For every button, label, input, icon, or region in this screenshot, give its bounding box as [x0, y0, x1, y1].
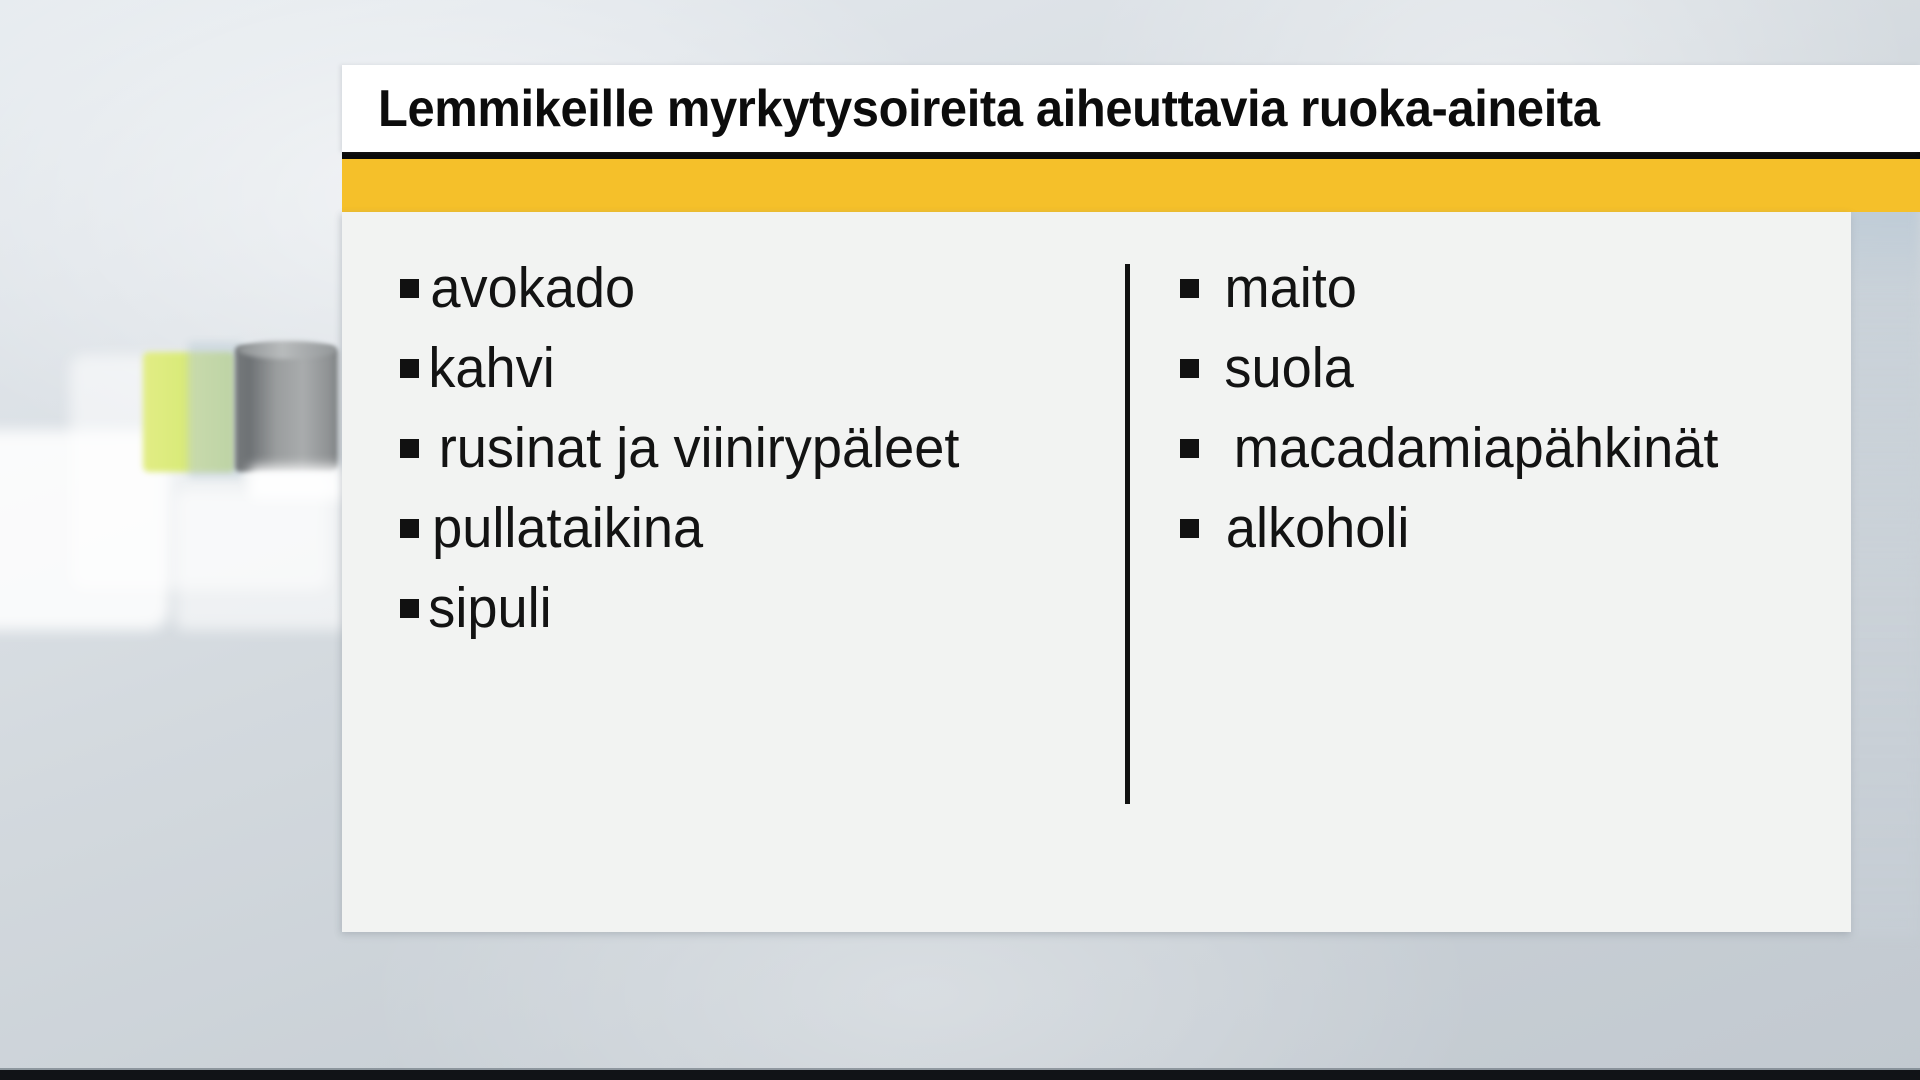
- square-bullet-icon: [400, 599, 419, 618]
- background-gray-cylinder-top: [238, 341, 336, 359]
- list-item-label: pullataikina: [432, 500, 703, 557]
- list-item-label: suola: [1224, 340, 1353, 397]
- bullet-columns: avokado kahvi rusinat ja viinirypäleet p…: [342, 212, 1851, 932]
- left-bullet-column: avokado kahvi rusinat ja viinirypäleet p…: [400, 260, 1140, 660]
- graphic-title-bar: Lemmikeille myrkytysoireita aiheuttavia …: [342, 65, 1920, 152]
- accent-bar: [342, 159, 1920, 212]
- list-item: maito: [1180, 260, 1820, 340]
- page-title: Lemmikeille myrkytysoireita aiheuttavia …: [378, 79, 1600, 139]
- square-bullet-icon: [1180, 279, 1199, 298]
- lower-third-graphic: Lemmikeille myrkytysoireita aiheuttavia …: [342, 65, 1920, 932]
- list-item: rusinat ja viinirypäleet: [400, 420, 1140, 500]
- title-underline-rule: [342, 152, 1920, 159]
- graphic-body: avokado kahvi rusinat ja viinirypäleet p…: [342, 212, 1851, 932]
- list-item: pullataikina: [400, 500, 1140, 580]
- letterbox-bottom: [0, 1070, 1920, 1080]
- list-item: suola: [1180, 340, 1820, 420]
- list-item-label: macadamiapähkinät: [1234, 420, 1719, 477]
- right-bullet-column: maito suola macadamiapähkinät alkoholi: [1180, 260, 1820, 580]
- list-item-label: maito: [1224, 260, 1356, 317]
- list-item-label: avokado: [430, 260, 635, 317]
- list-item-label: rusinat ja viinirypäleet: [439, 420, 960, 477]
- list-item: kahvi: [400, 340, 1140, 420]
- list-item: alkoholi: [1180, 500, 1820, 580]
- list-item-label: alkoholi: [1226, 500, 1410, 557]
- square-bullet-icon: [400, 279, 419, 298]
- square-bullet-icon: [1180, 359, 1199, 378]
- square-bullet-icon: [400, 359, 419, 378]
- square-bullet-icon: [1180, 519, 1199, 538]
- square-bullet-icon: [400, 439, 419, 458]
- list-item-label: sipuli: [428, 580, 551, 637]
- list-item: macadamiapähkinät: [1180, 420, 1820, 500]
- background-gray-cylinder: [235, 346, 338, 472]
- list-item-label: kahvi: [428, 340, 554, 397]
- list-item: sipuli: [400, 580, 1140, 660]
- square-bullet-icon: [400, 519, 419, 538]
- broadcast-frame: Lemmikeille myrkytysoireita aiheuttavia …: [0, 0, 1920, 1080]
- square-bullet-icon: [1180, 439, 1199, 458]
- list-item: avokado: [400, 260, 1140, 340]
